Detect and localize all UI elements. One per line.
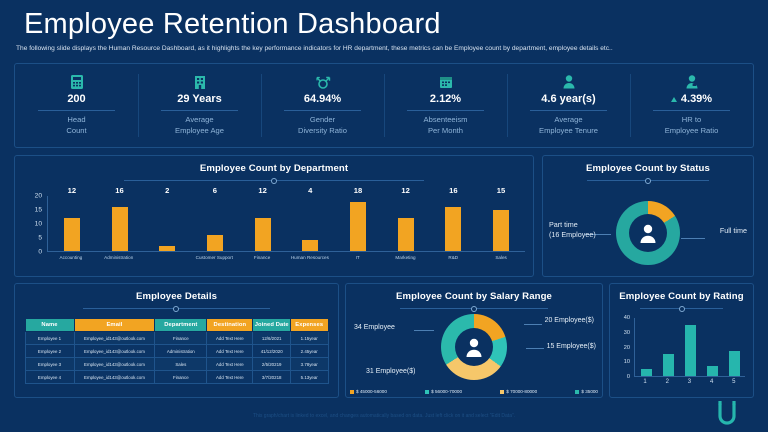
table-cell: Employee 2 [25, 345, 74, 358]
callout-line [526, 348, 544, 349]
footer-note: This graph/chart is linked to excel, and… [0, 413, 768, 419]
table-cell: Employee_id143@outlook.com [74, 371, 155, 384]
bar-group[interactable]: 12 [384, 196, 427, 251]
kpi-label: Head Count [66, 115, 86, 136]
kpi-value: 2.12% [430, 93, 461, 105]
kpi-label-line2: Employee Age [175, 126, 224, 135]
bar-group[interactable]: 18 [337, 196, 380, 251]
callout-line-right [681, 238, 705, 239]
bar-group[interactable]: 4 [289, 196, 332, 251]
table-cell: 3/7/20218 [253, 371, 291, 384]
x-axis-label: Marketing [384, 255, 427, 261]
kpi-label-line1: Head [67, 115, 85, 124]
y-tick: 30 [624, 330, 630, 336]
building-icon [193, 73, 207, 90]
employee-details-table[interactable]: NameEmailDepartmentDestinationJoined Dat… [25, 318, 329, 384]
kpi-label: Absenteeism Per Month [424, 115, 468, 136]
x-axis-label: Customer Support [193, 255, 236, 261]
title-decoration [83, 308, 270, 309]
table-cell: 5.13year [290, 371, 328, 384]
table-cell: Add Text Here [207, 358, 253, 371]
part-time-label: Part time (16 Employee) [549, 220, 596, 240]
calculator-icon [70, 73, 84, 90]
legend-label: $ 35000 [581, 389, 598, 394]
bar[interactable] [663, 354, 674, 376]
table-cell: Employee_id143@outlook.com [74, 345, 155, 358]
bar[interactable]: 15 [493, 210, 509, 251]
kpi-label-line2: Diversity Ratio [298, 126, 347, 135]
table-cell: Finance [155, 332, 207, 345]
table-cell: 41/12/2020 [253, 345, 291, 358]
title-decoration [587, 180, 709, 181]
bar-value-label: 12 [401, 186, 409, 195]
bar[interactable] [729, 351, 740, 376]
bar-group[interactable]: 12 [50, 196, 93, 251]
table-cell: 3.78year [290, 358, 328, 371]
person-icon [562, 73, 576, 90]
salary-legend: $ 45000-56000$ 56000-70000$ 70000-80000$… [350, 389, 598, 394]
bars: 12162612418121615 [48, 196, 525, 251]
y-tick: 20 [624, 345, 630, 351]
table-column-header[interactable]: Email [74, 319, 155, 332]
legend-item[interactable]: $ 56000-70000 [425, 389, 462, 394]
bar[interactable] [641, 369, 652, 376]
y-tick: 10 [624, 359, 630, 365]
bar[interactable]: 4 [302, 240, 318, 251]
legend-label: $ 45000-56000 [356, 389, 387, 394]
kpi-average-employee-age[interactable]: 29 Years Average Employee Age [138, 64, 261, 147]
bar[interactable]: 6 [207, 235, 223, 252]
donut-center [629, 214, 667, 252]
table-title: Employee Details [15, 291, 338, 302]
brand-logo-icon [714, 400, 740, 430]
x-axis-label: R&D [432, 255, 475, 261]
legend-swatch [575, 390, 579, 394]
table-cell: 12/6/2021 [253, 332, 291, 345]
x-axis-label: 1 [635, 379, 655, 393]
x-axis-labels: 12345 [634, 377, 745, 393]
part-time-label-line2: (16 Employee) [549, 230, 596, 239]
page-subtitle: The following slide displays the Human R… [16, 44, 756, 53]
kpi-value: 4.39% [671, 93, 712, 105]
kpi-label-line2: Employee Tenure [539, 126, 598, 135]
x-axis-label: IT [336, 255, 379, 261]
kpi-head-count[interactable]: 200 Head Count [15, 64, 138, 147]
bar[interactable] [707, 366, 718, 376]
table-cell: Employee 4 [25, 371, 74, 384]
salary-donut-ring[interactable] [441, 314, 507, 380]
plot-area [634, 318, 745, 377]
employee-count-by-salary-range-card: Employee Count by Salary Range 34 Employ… [345, 283, 603, 398]
table-cell: Administration [155, 345, 207, 358]
table-cell: Employee_id143@outlook.com [74, 358, 155, 371]
x-axis-label: Sales [480, 255, 523, 261]
bar-value-label: 12 [258, 186, 266, 195]
legend-label: $ 56000-70000 [431, 389, 462, 394]
divider [284, 110, 360, 111]
x-axis-label: Finance [241, 255, 284, 261]
person-icon [463, 336, 485, 358]
table-header-row: NameEmailDepartmentDestinationJoined Dat… [25, 319, 328, 332]
bars [635, 318, 745, 376]
salary-label-31: 31 Employee($) [366, 368, 415, 375]
bar-group[interactable]: 16 [432, 196, 475, 251]
x-axis-labels: AccountingAdministrationCustomer Support… [47, 252, 525, 270]
kpi-panel: 200 Head Count 29 Years Average Employee… [14, 63, 754, 148]
table-column-header[interactable]: Name [25, 319, 74, 332]
callout-line [524, 324, 542, 325]
y-tick: 0 [627, 374, 630, 380]
bar-group[interactable]: 2 [146, 196, 189, 251]
employee-details-card: Employee Details NameEmailDepartmentDest… [14, 283, 339, 398]
x-axis-label: 2 [657, 379, 677, 393]
callout-line [414, 330, 434, 331]
divider [653, 110, 729, 111]
kpi-gender-diversity-ratio[interactable]: 64.94% Gender Diversity Ratio [261, 64, 384, 147]
x-axis-label: Administration [97, 255, 140, 261]
divider [407, 110, 483, 111]
table-column-header[interactable]: Joined Date [253, 319, 291, 332]
table-cell: Add Text Here [207, 345, 253, 358]
salary-label-15: 15 Employee($) [547, 343, 596, 350]
table-cell: 1.15year [290, 332, 328, 345]
legend-item[interactable]: $ 70000-80000 [500, 389, 537, 394]
chart-title: Employee Count by Department [15, 163, 533, 174]
gender-icon [315, 73, 331, 90]
y-tick: 5 [38, 235, 42, 242]
kpi-label-line2: Count [66, 126, 86, 135]
kpi-label: Average Employee Tenure [539, 115, 598, 136]
y-tick: 40 [624, 315, 630, 321]
table-row[interactable]: Employee 3Employee_id143@outlook.comSale… [25, 358, 328, 371]
bar-value-label: 15 [497, 186, 505, 195]
kpi-label: HR to Employee Ratio [665, 115, 719, 136]
title-decoration [124, 180, 424, 181]
kpi-absenteeism-per-month[interactable]: 2.12% Absenteeism Per Month [384, 64, 507, 147]
legend-swatch [500, 390, 504, 394]
x-axis-label: 5 [724, 379, 744, 393]
table-cell: 2.45year [290, 345, 328, 358]
bar[interactable] [685, 325, 696, 376]
plot-area: 12162612418121615 [47, 196, 525, 252]
x-axis-label: Human Resources [288, 255, 331, 261]
x-axis-label: 3 [679, 379, 699, 393]
table-cell: Add Text Here [207, 371, 253, 384]
bar[interactable]: 16 [445, 207, 461, 251]
table-cell: Employee 1 [25, 332, 74, 345]
table-column-header[interactable]: Expenses [290, 319, 328, 332]
table-row[interactable]: Employee 1Employee_id143@outlook.comFina… [25, 332, 328, 345]
employee-count-by-status-card: Employee Count by Status Part time (16 E… [542, 155, 754, 277]
kpi-value: 64.94% [304, 93, 341, 105]
legend-item[interactable]: $ 35000 [575, 389, 598, 394]
bar-value-label: 18 [354, 186, 362, 195]
full-time-label: Full time [720, 226, 747, 236]
kpi-label-line1: Average [554, 115, 582, 124]
table-row[interactable]: Employee 4Employee_id143@outlook.comFina… [25, 371, 328, 384]
kpi-value: 200 [67, 93, 85, 105]
kpi-average-employee-tenure[interactable]: 4.6 year(s) Average Employee Tenure [507, 64, 630, 147]
table-column-header[interactable]: Department [155, 319, 207, 332]
bar-value-label: 16 [115, 186, 123, 195]
kpi-label-line1: Gender [310, 115, 335, 124]
table-cell: Add Text Here [207, 332, 253, 345]
divider [530, 110, 606, 111]
divider [161, 110, 237, 111]
bar-group[interactable]: 15 [480, 196, 523, 251]
chart-title: Employee Count by Rating [610, 291, 753, 302]
part-time-label-line1: Part time [549, 220, 578, 229]
bar[interactable]: 16 [112, 207, 128, 251]
table-column-header[interactable]: Destination [207, 319, 253, 332]
bar[interactable]: 12 [255, 218, 271, 251]
table-row[interactable]: Employee 2Employee_id143@outlook.comAdmi… [25, 345, 328, 358]
title-decoration [400, 308, 548, 309]
bar-group[interactable]: 12 [241, 196, 284, 251]
bar-value-label: 4 [308, 186, 312, 195]
bar-value-label: 2 [165, 186, 169, 195]
donut-center [455, 328, 493, 366]
chart-title: Employee Count by Status [543, 163, 753, 174]
kpi-label-line2: Employee Ratio [665, 126, 719, 135]
table-cell: Employee 3 [25, 358, 74, 371]
trend-up-icon [671, 97, 677, 102]
bar-value-label: 12 [68, 186, 76, 195]
rating-bar-chart: 403020100 12345 [616, 318, 747, 393]
legend-swatch [425, 390, 429, 394]
kpi-hr-to-employee-ratio[interactable]: 4.39% HR to Employee Ratio [630, 64, 753, 147]
y-axis: 403020100 [616, 318, 632, 377]
bar-value-label: 6 [213, 186, 217, 195]
y-axis: 20151050 [25, 196, 45, 252]
x-axis-label: Accounting [49, 255, 92, 261]
bar[interactable]: 2 [159, 246, 175, 252]
kpi-label: Average Employee Age [175, 115, 224, 136]
donut-ring[interactable] [616, 201, 680, 265]
kpi-label-line1: HR to [682, 115, 701, 124]
table-cell: Finance [155, 371, 207, 384]
person-badge-icon [685, 73, 699, 90]
bar[interactable]: 12 [398, 218, 414, 251]
y-tick: 15 [35, 207, 42, 214]
table-cell: Employee_id143@outlook.com [74, 332, 155, 345]
bar-group[interactable]: 6 [193, 196, 236, 251]
table-cell: Sales [155, 358, 207, 371]
kpi-value-text: 4.39% [681, 93, 712, 105]
kpi-value: 4.6 year(s) [541, 93, 595, 105]
bar[interactable]: 12 [64, 218, 80, 251]
title-decoration [640, 308, 723, 309]
page-title: Employee Retention Dashboard [24, 8, 441, 41]
table-cell: 2/5/20219 [253, 358, 291, 371]
bar-group[interactable]: 16 [98, 196, 141, 251]
calendar-icon [439, 73, 453, 90]
y-tick: 10 [35, 221, 42, 228]
employee-count-by-rating-card: Employee Count by Rating 403020100 12345 [609, 283, 754, 398]
status-donut-chart: Part time (16 Employee) Full time [543, 194, 753, 272]
salary-label-20: 20 Employee($) [545, 317, 594, 324]
employee-count-by-department-card: Employee Count by Department 20151050 12… [14, 155, 534, 277]
chart-title: Employee Count by Salary Range [346, 291, 602, 302]
x-axis-label: 4 [702, 379, 722, 393]
kpi-label-line1: Absenteeism [424, 115, 468, 124]
person-icon [637, 222, 659, 244]
kpi-label-line1: Average [185, 115, 213, 124]
kpi-value: 29 Years [177, 93, 221, 105]
kpi-label: Gender Diversity Ratio [298, 115, 347, 136]
department-bar-chart: 20151050 12162612418121615 AccountingAdm… [25, 196, 525, 270]
y-tick: 0 [38, 249, 42, 256]
divider [38, 110, 114, 111]
dashboard-slide: Employee Retention Dashboard The followi… [0, 0, 768, 432]
legend-label: $ 70000-80000 [506, 389, 537, 394]
bar-value-label: 16 [449, 186, 457, 195]
salary-label-34: 34 Employee [354, 324, 395, 331]
bar[interactable]: 18 [350, 202, 366, 252]
kpi-label-line2: Per Month [428, 126, 463, 135]
legend-swatch [350, 390, 354, 394]
y-tick: 20 [35, 193, 42, 200]
legend-item[interactable]: $ 45000-56000 [350, 389, 387, 394]
